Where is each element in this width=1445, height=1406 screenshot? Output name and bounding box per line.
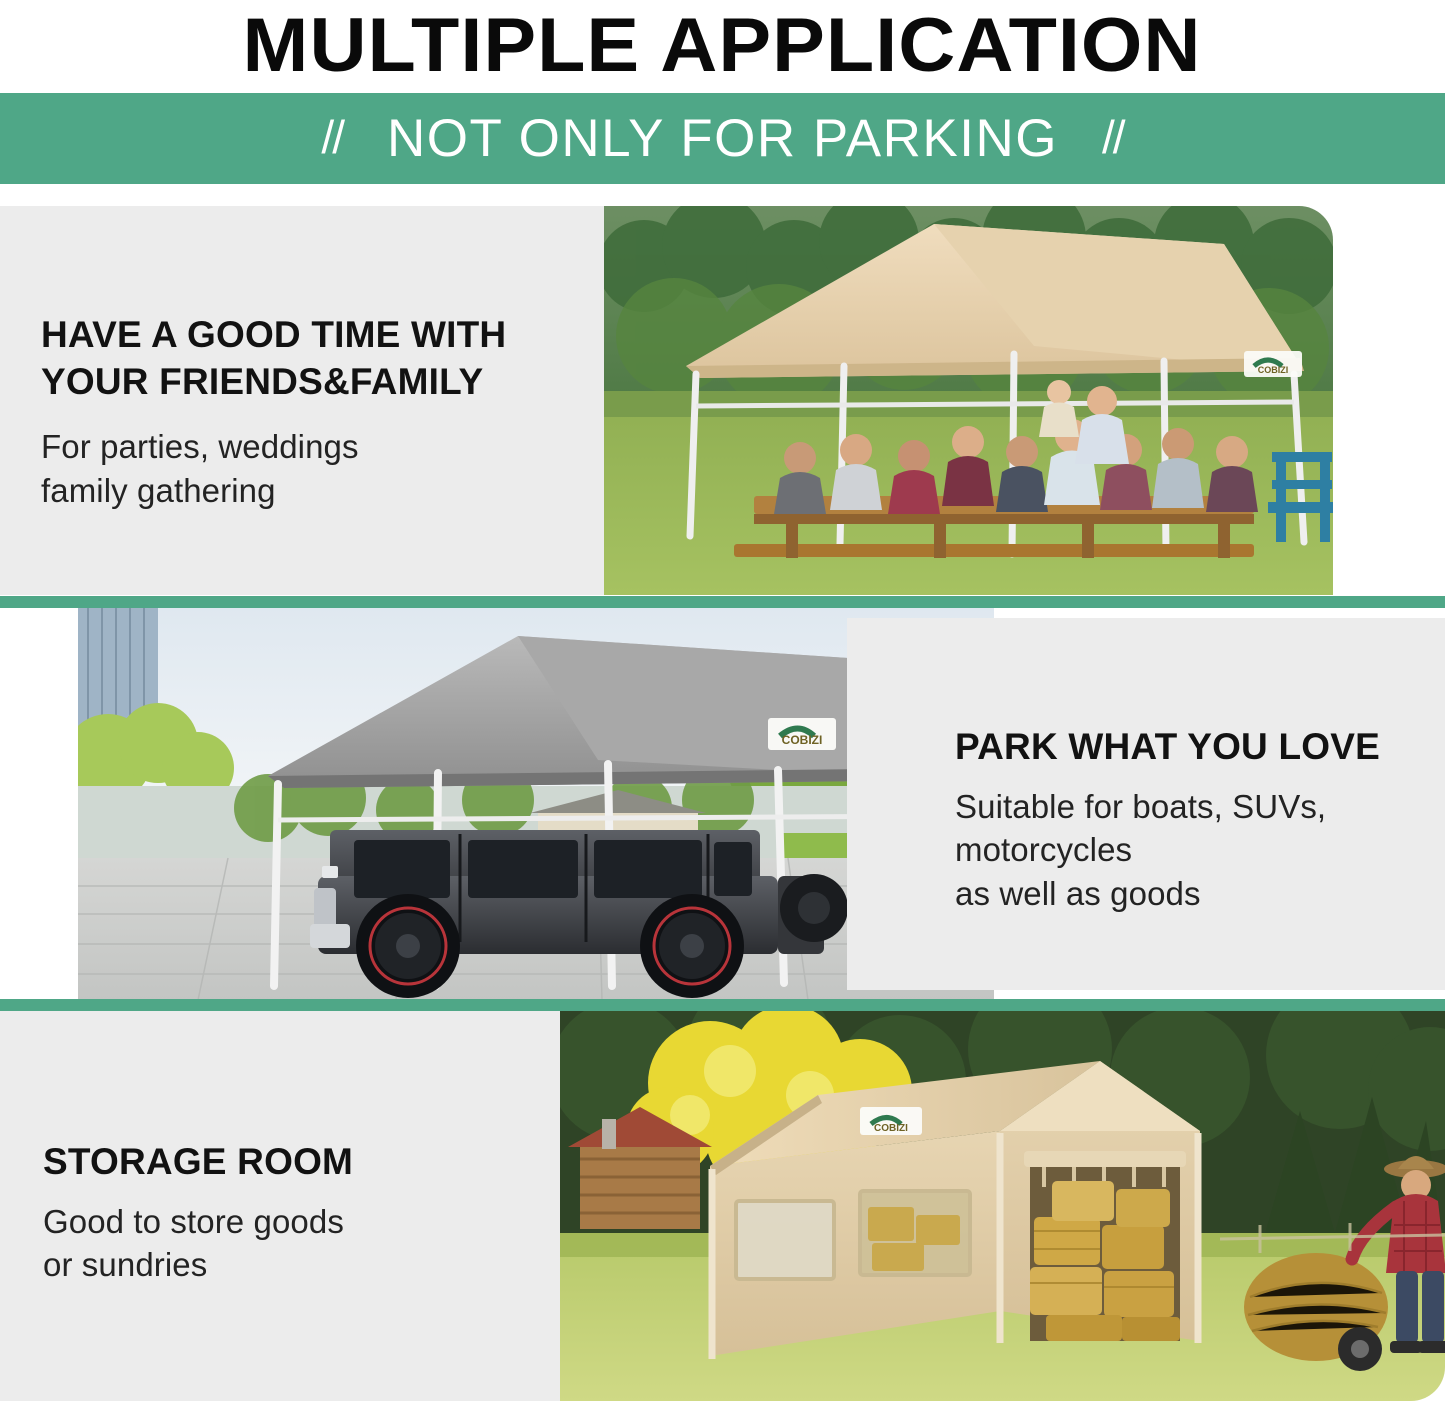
section-2-body-line-2: motorcycles xyxy=(955,828,1380,872)
divider-bar-2 xyxy=(0,999,1445,1011)
section-2-body-line-1: Suitable for boats, SUVs, xyxy=(955,785,1380,829)
page-title-text: MULTIPLE APPLICATION xyxy=(243,8,1202,84)
section-1-text: HAVE A GOOD TIME WITH YOUR FRIENDS&FAMIL… xyxy=(41,312,506,513)
divider-bar-1 xyxy=(0,596,1445,608)
section-2-body-line-3: as well as goods xyxy=(955,872,1380,916)
section-1-photo: COBIZI xyxy=(604,206,1333,595)
svg-text:COBIZI: COBIZI xyxy=(782,733,823,747)
section-1-body-line-1: For parties, weddings xyxy=(41,425,506,469)
svg-text:COBIZI: COBIZI xyxy=(1258,365,1289,375)
section-2-text: PARK WHAT YOU LOVE Suitable for boats, S… xyxy=(955,724,1380,916)
section-have-a-good-time: COBIZI HAVE A GOOD TIME WITH YOUR FRIEND… xyxy=(0,206,1333,595)
section-1-heading-line-1: HAVE A GOOD TIME WITH xyxy=(41,312,506,359)
section-3-heading-line-1: STORAGE ROOM xyxy=(43,1139,353,1186)
section-1-body-line-2: family gathering xyxy=(41,469,506,513)
slash-left-icon: // xyxy=(321,114,343,164)
subtitle-text: NOT ONLY FOR PARKING xyxy=(343,112,1102,165)
section-3-body-line-1: Good to store goods xyxy=(43,1200,353,1244)
section-3-text: STORAGE ROOM Good to store goods or sund… xyxy=(43,1139,353,1287)
slash-right-icon: // xyxy=(1102,114,1124,164)
svg-text:COBIZI: COBIZI xyxy=(874,1123,908,1134)
brand-badge: COBIZI xyxy=(860,1107,922,1135)
section-1-heading-line-2: YOUR FRIENDS&FAMILY xyxy=(41,359,506,406)
subtitle-band: // NOT ONLY FOR PARKING // xyxy=(0,93,1445,184)
section-3-photo: COBIZI xyxy=(560,1011,1445,1401)
section-2-heading-line-1: PARK WHAT YOU LOVE xyxy=(955,724,1380,771)
section-3-body-line-2: or sundries xyxy=(43,1243,353,1287)
section-park-what-you-love: COBIZI PARK WHAT YOU LOVE Suitable for b… xyxy=(0,608,1445,1000)
page-title: MULTIPLE APPLICATION xyxy=(0,0,1445,92)
brand-badge: COBIZI xyxy=(1244,351,1302,377)
section-storage-room: COBIZI STORAGE ROOM Good to store goods … xyxy=(0,1011,1445,1401)
infographic-page: MULTIPLE APPLICATION // NOT ONLY FOR PAR… xyxy=(0,0,1445,1406)
brand-badge: COBIZI xyxy=(768,718,836,750)
